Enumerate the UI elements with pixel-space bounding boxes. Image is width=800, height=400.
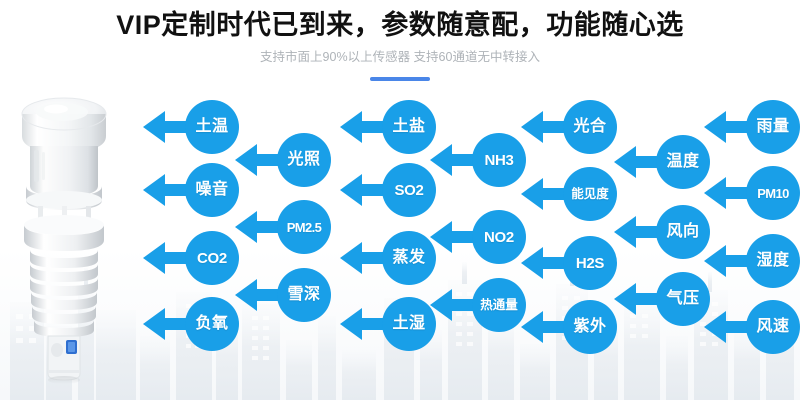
bubble-arrow-icon (521, 300, 617, 354)
bubble-arrow-icon (521, 236, 617, 290)
sensor-bubble[interactable]: 能见度 (521, 167, 617, 221)
sensor-bubble[interactable]: 噪音 (143, 163, 239, 217)
bubble-arrow-icon (521, 100, 617, 154)
sensor-bubble[interactable]: 雨量 (704, 100, 800, 154)
sensor-bubble[interactable]: NO2 (430, 210, 526, 264)
promo-banner: VIP定制时代已到来，参数随意配，功能随心选 支持市面上90%以上传感器 支持6… (0, 0, 800, 400)
bubble-arrow-icon (614, 272, 710, 326)
sensor-bubble[interactable]: 光合 (521, 100, 617, 154)
sensor-bubble[interactable]: 热通量 (430, 278, 526, 332)
bubble-arrow-icon (340, 163, 436, 217)
bubble-arrow-icon (143, 163, 239, 217)
sensor-bubble[interactable]: 土湿 (340, 297, 436, 351)
sensor-bubble[interactable]: 土盐 (340, 100, 436, 154)
sensor-bubble[interactable]: 湿度 (704, 234, 800, 288)
page-subtitle: 支持市面上90%以上传感器 支持60通道无中转接入 (0, 39, 800, 64)
sensor-bubble[interactable]: H2S (521, 236, 617, 290)
bubble-arrow-icon (340, 297, 436, 351)
bubble-arrow-icon (704, 100, 800, 154)
sensor-bubble[interactable]: 气压 (614, 272, 710, 326)
sensor-bubble[interactable]: PM2.5 (235, 200, 331, 254)
banner-header: VIP定制时代已到来，参数随意配，功能随心选 支持市面上90%以上传感器 支持6… (0, 0, 800, 81)
sensor-bubble[interactable]: 负氧 (143, 297, 239, 351)
sensor-bubble[interactable]: 光照 (235, 133, 331, 187)
sensor-bubble[interactable]: 土温 (143, 100, 239, 154)
sensor-bubble[interactable]: 紫外 (521, 300, 617, 354)
bubble-arrow-icon (143, 297, 239, 351)
bubble-arrow-icon (704, 166, 800, 220)
bubble-arrow-icon (340, 100, 436, 154)
bubble-arrow-icon (430, 133, 526, 187)
bubble-arrow-icon (704, 234, 800, 288)
sensor-bubble[interactable]: SO2 (340, 163, 436, 217)
sensor-bubble[interactable]: 风速 (704, 300, 800, 354)
sensor-bubble[interactable]: 雪深 (235, 268, 331, 322)
bubble-arrow-icon (614, 135, 710, 189)
bubble-arrow-icon (704, 300, 800, 354)
bubble-arrow-icon (235, 133, 331, 187)
sensor-bubble[interactable]: 蒸发 (340, 231, 436, 285)
bubble-arrow-icon (614, 205, 710, 259)
sensor-bubble[interactable]: CO2 (143, 231, 239, 285)
sensor-bubble[interactable]: NH3 (430, 133, 526, 187)
bubble-arrow-icon (235, 268, 331, 322)
page-title: VIP定制时代已到来，参数随意配，功能随心选 (0, 0, 800, 39)
bubble-arrow-icon (235, 200, 331, 254)
sensor-bubble[interactable]: 风向 (614, 205, 710, 259)
bubble-arrow-icon (143, 231, 239, 285)
accent-divider (370, 77, 430, 81)
bubble-arrow-icon (143, 100, 239, 154)
sensor-bubble[interactable]: 温度 (614, 135, 710, 189)
bubble-arrow-icon (340, 231, 436, 285)
bubble-arrow-icon (521, 167, 617, 221)
bubble-arrow-icon (430, 210, 526, 264)
bubble-arrow-icon (430, 278, 526, 332)
sensor-bubble[interactable]: PM10 (704, 166, 800, 220)
